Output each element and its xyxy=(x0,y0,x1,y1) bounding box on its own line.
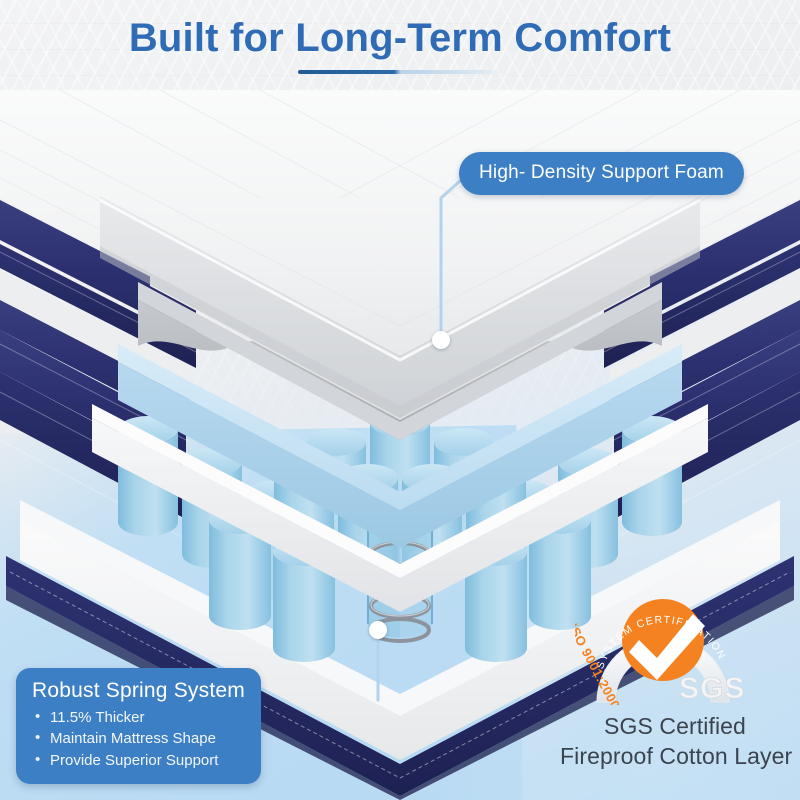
info-box-robust-spring-system[interactable]: Robust Spring System 11.5% Thicker Maint… xyxy=(16,668,261,784)
title-underline xyxy=(298,70,503,74)
info-box-bullet: Provide Superior Support xyxy=(32,750,247,771)
infographic-canvas: Built for Long-Term Comfort High- Densit… xyxy=(0,0,800,800)
info-box-bullet-list: 11.5% Thicker Maintain Mattress Shape Pr… xyxy=(32,707,247,771)
info-box-bullet: 11.5% Thicker xyxy=(32,707,247,728)
sgs-caption-line1: SGS Certified xyxy=(560,711,790,741)
sgs-certification-badge: SYSTEM CERTIFICATION ISO 9001:2000 SGS S… xyxy=(560,580,790,772)
page-title: Built for Long-Term Comfort xyxy=(0,16,800,61)
sgs-orange-mark xyxy=(622,599,705,681)
info-box-heading: Robust Spring System xyxy=(32,679,247,703)
sgs-caption-line2: Fireproof Cotton Layer xyxy=(560,741,790,771)
callout-high-density-foam[interactable]: High- Density Support Foam xyxy=(459,152,744,195)
leader-dot-spring xyxy=(369,621,387,639)
sgs-caption: SGS Certified Fireproof Cotton Layer xyxy=(560,711,790,772)
info-box-bullet: Maintain Mattress Shape xyxy=(32,728,247,749)
sgs-wordmark: SGS xyxy=(679,672,745,705)
sgs-logo-svg: SYSTEM CERTIFICATION ISO 9001:2000 SGS xyxy=(575,580,775,705)
callout-high-density-foam-label: High- Density Support Foam xyxy=(479,162,724,183)
leader-dot-foam xyxy=(432,331,450,349)
sgs-logo: SYSTEM CERTIFICATION ISO 9001:2000 SGS xyxy=(575,580,775,705)
